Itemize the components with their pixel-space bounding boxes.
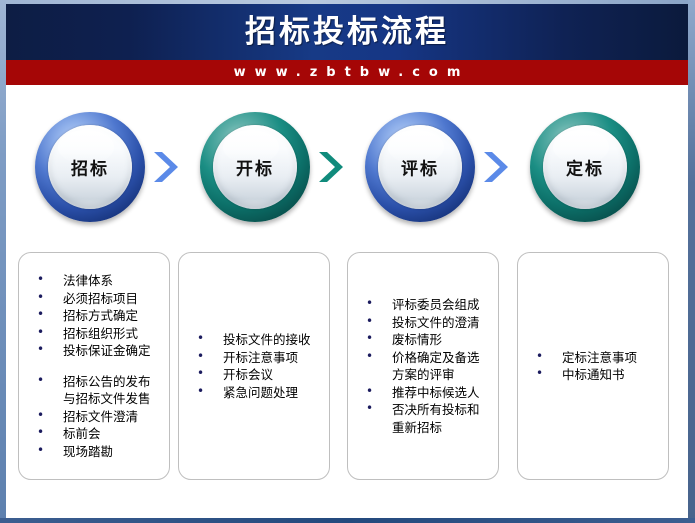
list-item: 必须招标项目: [37, 290, 163, 308]
list-item: 价格确定及备选 方案的评审: [366, 349, 492, 384]
flow-arrow-2-icon: [317, 150, 347, 184]
list-item: 招标方式确定: [37, 307, 163, 325]
flow-arrow-1-icon: [152, 150, 182, 184]
page-title: 招标投标流程: [6, 6, 688, 58]
panel-4: 定标注意事项中标通知书: [517, 252, 669, 480]
flow-step-2-label: 开标: [200, 155, 310, 180]
flow-step-3-label: 评标: [365, 155, 475, 180]
list-item: 废标情形: [366, 331, 492, 349]
panel-2-list: 投标文件的接收开标注意事项开标会议紧急问题处理: [179, 331, 329, 401]
list-item: 标前会: [37, 425, 163, 443]
list-item: 评标委员会组成: [366, 296, 492, 314]
frame-bottom-edge: [0, 518, 695, 523]
list-item: 投标文件的接收: [197, 331, 323, 349]
list-item: 投标文件的澄清: [366, 314, 492, 332]
list-item: 中标通知书: [536, 366, 662, 384]
flow-step-3[interactable]: 评标: [365, 112, 475, 222]
list-item: 招标公告的发布 与招标文件发售: [37, 373, 163, 408]
panel-4-list: 定标注意事项中标通知书: [518, 349, 668, 384]
list-item: 否决所有投标和 重新招标: [366, 401, 492, 436]
site-url: www.zbtbw.com: [6, 60, 688, 85]
panel-1: 法律体系必须招标项目招标方式确定招标组织形式投标保证金确定招标公告的发布 与招标…: [18, 252, 170, 480]
flow-step-2[interactable]: 开标: [200, 112, 310, 222]
list-spacer: [37, 360, 163, 373]
list-item: 推荐中标候选人: [366, 384, 492, 402]
list-item: 招标组织形式: [37, 325, 163, 343]
slide-body: 招标 开标 评标 定标 法律体系必须招标项目招标方式确定: [6, 85, 688, 518]
url-band: www.zbtbw.com: [6, 60, 688, 85]
flow-step-4-label: 定标: [530, 155, 640, 180]
list-item: 现场踏勘: [37, 443, 163, 461]
flow-step-1-label: 招标: [35, 155, 145, 180]
panel-3: 评标委员会组成投标文件的澄清废标情形价格确定及备选 方案的评审推荐中标候选人否决…: [347, 252, 499, 480]
panel-3-list: 评标委员会组成投标文件的澄清废标情形价格确定及备选 方案的评审推荐中标候选人否决…: [348, 296, 498, 436]
flow-step-4[interactable]: 定标: [530, 112, 640, 222]
panel-1-list: 法律体系必须招标项目招标方式确定招标组织形式投标保证金确定招标公告的发布 与招标…: [19, 272, 169, 460]
list-item: 紧急问题处理: [197, 384, 323, 402]
list-item: 招标文件澄清: [37, 408, 163, 426]
flow-step-1[interactable]: 招标: [35, 112, 145, 222]
panel-2: 投标文件的接收开标注意事项开标会议紧急问题处理: [178, 252, 330, 480]
list-item: 定标注意事项: [536, 349, 662, 367]
flow-arrow-3-icon: [482, 150, 512, 184]
slide-canvas: 招标投标流程 www.zbtbw.com 招标 开标 评标 定标: [0, 0, 695, 523]
list-item: 投标保证金确定: [37, 342, 163, 360]
list-item: 法律体系: [37, 272, 163, 290]
list-item: 开标注意事项: [197, 349, 323, 367]
frame-right-edge: [688, 0, 695, 523]
header-band: 招标投标流程: [6, 4, 688, 60]
list-item: 开标会议: [197, 366, 323, 384]
